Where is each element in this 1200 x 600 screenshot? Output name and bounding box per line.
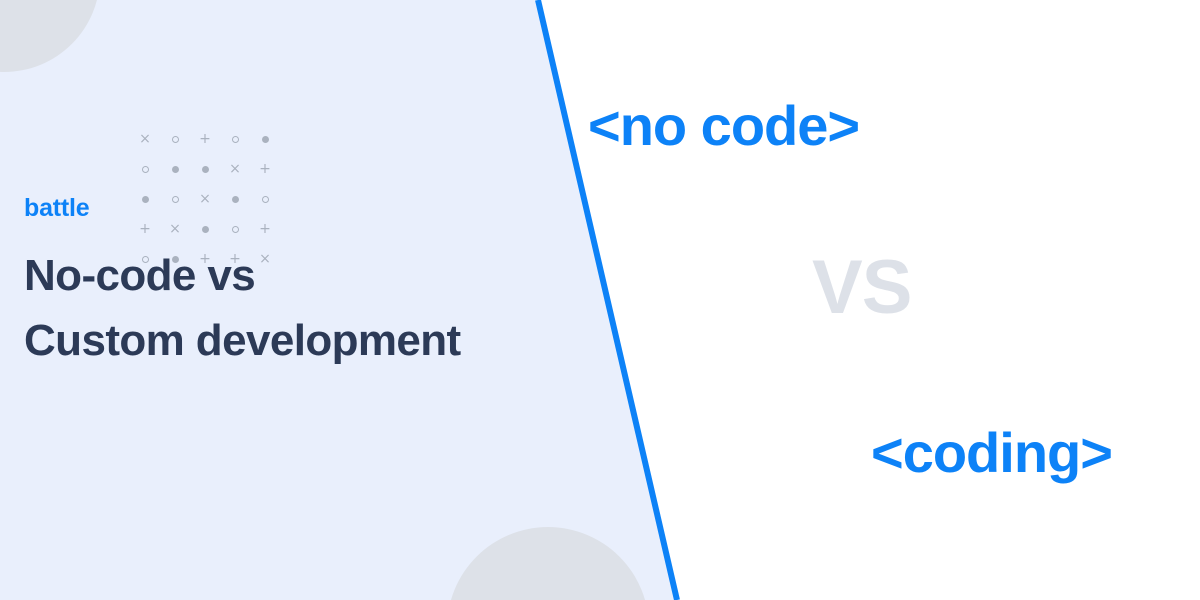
pattern-dot-hollow-icon: [130, 154, 160, 184]
page-title: No-code vs Custom development: [24, 243, 461, 373]
pattern-plus-icon: +: [190, 124, 220, 154]
pattern-dot-filled-icon: [250, 124, 280, 154]
tag-no-code: <no code>: [588, 98, 859, 154]
pattern-dot-hollow-icon: [220, 124, 250, 154]
eyebrow-label: battle: [24, 196, 461, 221]
left-content-block: battle No-code vs Custom development: [24, 196, 461, 373]
pattern-plus-icon: +: [250, 154, 280, 184]
tag-coding: <coding>: [871, 425, 1112, 481]
pattern-dot-hollow-icon: [160, 124, 190, 154]
pattern-cross-icon: ×: [130, 124, 160, 154]
headline-line-1: No-code vs: [24, 243, 461, 308]
headline-line-2: Custom development: [24, 308, 461, 373]
pattern-dot-filled-icon: [160, 154, 190, 184]
pattern-dot-filled-icon: [190, 154, 220, 184]
banner-root: ×+×+×+×+++× battle No-code vs Custom dev…: [0, 0, 1200, 600]
vs-label: VS: [812, 250, 911, 326]
pattern-cross-icon: ×: [220, 154, 250, 184]
